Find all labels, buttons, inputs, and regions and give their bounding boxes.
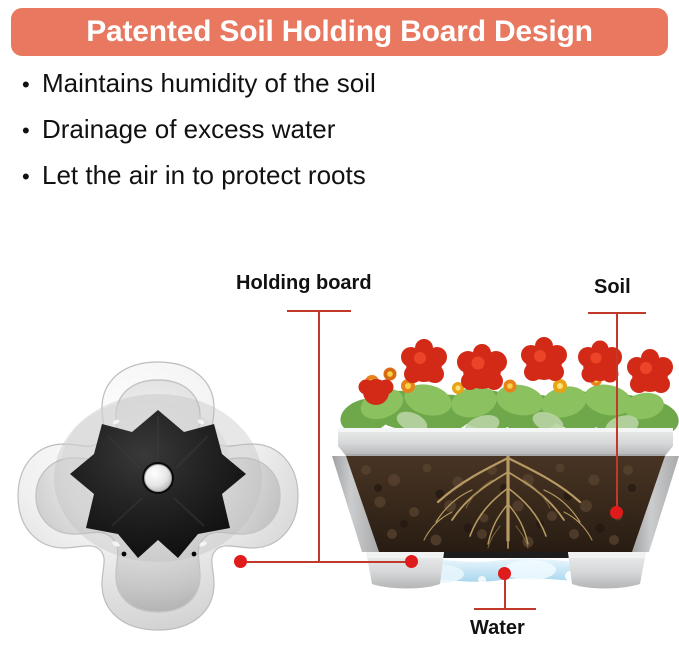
soil-leader-vertical [616,313,618,513]
list-item-label: Let the air in to protect roots [42,162,366,188]
bullet-icon: • [22,166,42,188]
list-item: • Let the air in to protect roots [22,162,642,208]
header-banner: Patented Soil Holding Board Design [11,8,668,56]
feature-list: • Maintains humidity of the soil • Drain… [22,70,642,208]
soil-mass [332,448,679,560]
list-item-label: Drainage of excess water [42,116,335,142]
plant-foliage [337,337,679,441]
callout-label-holding-board: Holding board [236,272,372,295]
page-title: Patented Soil Holding Board Design [86,17,593,47]
drain-hole [142,462,174,494]
planter-rim [338,428,673,458]
callout-label-water: Water [470,617,525,640]
holding-board-leader-vertical [318,311,320,562]
list-item: • Maintains humidity of the soil [22,70,642,116]
bullet-icon: • [22,120,42,142]
planter-cross-section-illustration [332,330,679,592]
bullet-icon: • [22,74,42,96]
infographic-page: Patented Soil Holding Board Design • Mai… [0,0,679,647]
holding-board-leader-horizontal [240,561,415,563]
holding-board-marker-right [405,555,418,568]
soil-marker [610,506,623,519]
callout-label-soil: Soil [594,276,631,299]
holding-board-marker-left [234,555,247,568]
holding-board-top-view-illustration [8,358,308,634]
water-leader-vertical [504,576,506,609]
water-marker [498,567,511,580]
list-item-label: Maintains humidity of the soil [42,70,376,96]
list-item: • Drainage of excess water [22,116,642,162]
